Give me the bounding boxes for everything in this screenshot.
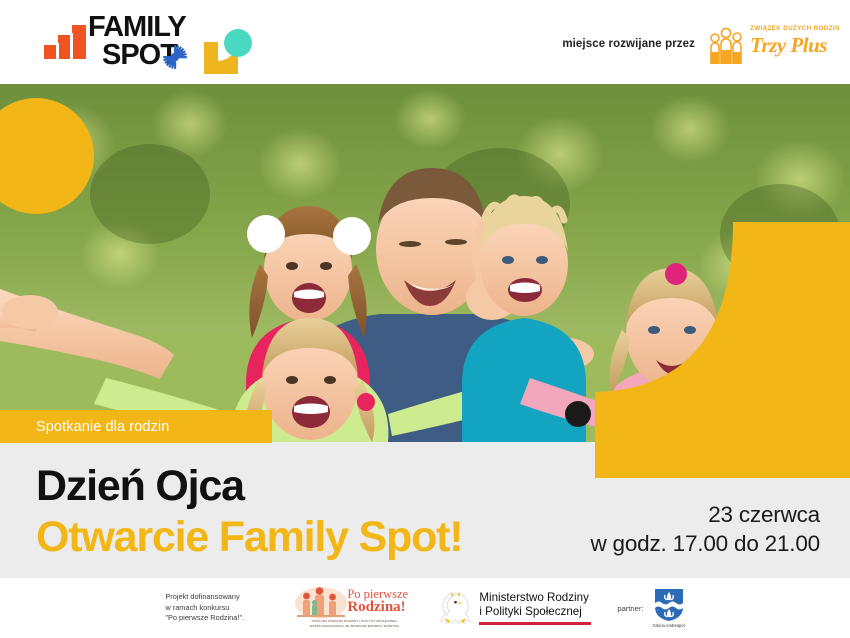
family-figures-icon [706,24,748,64]
footer-partner-block: partner: Gmina Andrespol [617,588,684,629]
event-datetime: 23 czerwca w godz. 17.00 do 21.00 [590,500,820,558]
trzy-plus-logo[interactable]: ZWIĄZEK DUŻYCH RODZIN Trzy Plus [706,22,824,66]
funding-note-line-1: Projekt dofinansowany [165,592,269,603]
coat-of-arms-icon [654,588,684,622]
event-title-primary: Dzień Ojca [36,462,462,510]
header-bar: FAMILY SPOT [0,0,850,84]
family-illustration-icon [295,586,347,619]
ministry-line-2: i Polityki Społecznej [479,605,591,619]
po-pierwsze-line-2: Rodzina! [347,599,405,616]
family-spot-logo[interactable]: FAMILY SPOT [44,11,234,75]
trzy-plus-subtitle: ZWIĄZEK DUŻYCH RODZIN [750,25,840,32]
ministry-text: Ministerstwo Rodziny i Polityki Społeczn… [479,591,591,625]
event-time: w godz. 17.00 do 21.00 [590,529,820,558]
header-partner-block: miejsce rozwijane przez [562,22,824,66]
starburst-icon [163,45,187,69]
yellow-angle-decoration [595,222,850,478]
partner-prefix-label: miejsce rozwijane przez [562,38,695,50]
po-pierwsze-fine-print: KONKURS MINISTRA RODZINY I POLITYKI SPOŁ… [295,619,413,628]
ministry-logo[interactable]: Ministerstwo Rodziny i Polityki Społeczn… [439,585,591,631]
partner-label: partner: [617,604,643,613]
crest-caption: Gmina Andrespol [653,623,685,628]
event-title-secondary: Otwarcie Family Spot! [36,513,462,561]
gmina-crest-logo[interactable]: Gmina Andrespol [653,588,685,629]
polish-eagle-icon [439,590,472,626]
event-category-strip: Spotkanie dla rodzin [0,410,272,443]
funding-note-line-2: w ramach konkursu [165,603,269,614]
funding-note-line-3: "Po pierwsze Rodzina!". [165,613,269,624]
po-pierwsze-rodzina-logo[interactable]: Po pierwsze Rodzina! KONKURS MINISTRA RO… [295,585,413,631]
teal-circle-icon [224,29,252,57]
funding-note: Projekt dofinansowany w ramach konkursu … [165,592,269,624]
stair-step-icon [44,25,86,59]
poster-canvas: FAMILY SPOT [0,0,850,638]
ministry-red-rule [479,622,591,625]
event-category-label: Spotkanie dla rodzin [0,419,169,435]
brand-wordmark: FAMILY SPOT [88,11,200,75]
brand-line-1: FAMILY [88,13,186,42]
event-date: 23 czerwca [590,500,820,529]
ministry-line-1: Ministerstwo Rodziny [479,591,591,605]
event-titles: Dzień Ojca Otwarcie Family Spot! [36,462,462,561]
trzy-plus-name: Trzy Plus [750,33,827,58]
footer-logos: Projekt dofinansowany w ramach konkursu … [0,578,850,638]
